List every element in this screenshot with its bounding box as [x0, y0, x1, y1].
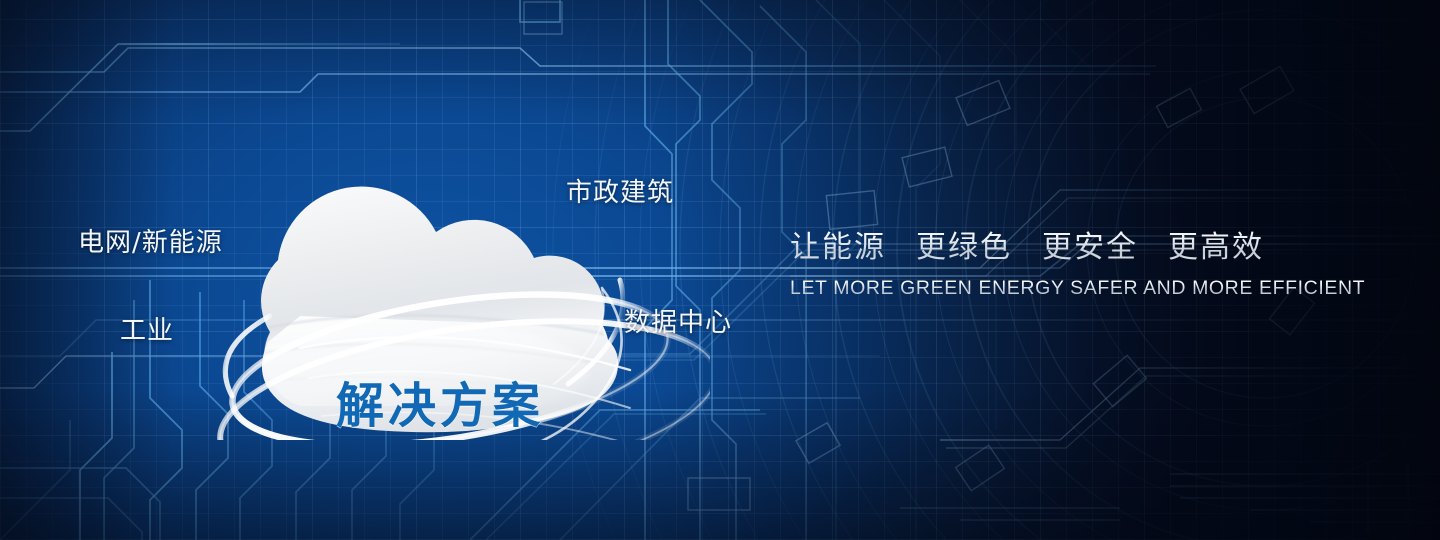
cloud-title: 解决方案 [336, 366, 544, 436]
slogan-part-1: 让能源 [790, 230, 886, 265]
solution-banner: 解决方案 电网/新能源 工业 市政建筑 数据中心 让能源更绿色更安全更高效 LE… [0, 0, 1440, 540]
slogan-english: LET MORE GREEN ENERGY SAFER AND MORE EFF… [790, 277, 1365, 300]
category-label-data-center[interactable]: 数据中心 [624, 302, 732, 339]
category-label-industry[interactable]: 工业 [120, 310, 174, 347]
slogan-part-3: 更安全 [1042, 230, 1138, 265]
cloud-graphic: 解决方案 [150, 120, 710, 440]
slogan-chinese: 让能源更绿色更安全更高效 [790, 222, 1365, 266]
category-label-grid-new-energy[interactable]: 电网/新能源 [78, 222, 223, 259]
category-label-civil-building[interactable]: 市政建筑 [566, 172, 674, 209]
slogan-part-4: 更高效 [1168, 230, 1264, 265]
slogan-block: 让能源更绿色更安全更高效 LET MORE GREEN ENERGY SAFER… [790, 222, 1365, 300]
slogan-part-2: 更绿色 [916, 230, 1012, 265]
